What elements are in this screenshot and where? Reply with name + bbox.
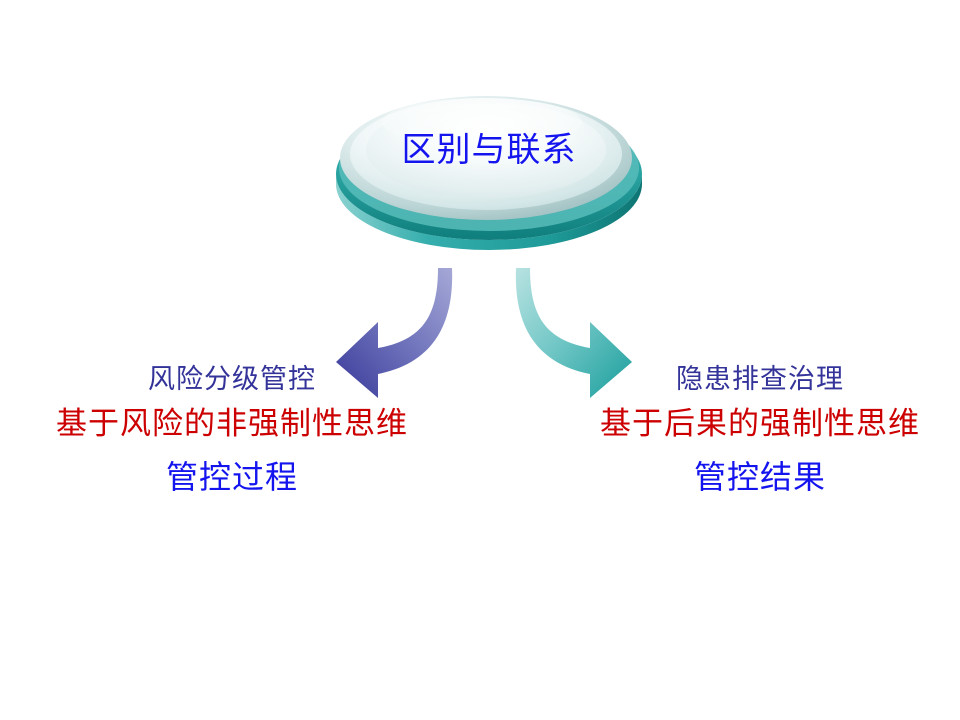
branch-left-result: 管控过程 <box>12 451 452 503</box>
branch-right-subtitle: 基于后果的强制性思维 <box>540 400 960 448</box>
branch-right-result: 管控结果 <box>540 451 960 503</box>
branch-left-subtitle: 基于风险的非强制性思维 <box>12 400 452 448</box>
slide-canvas: 区别与联系 风险分级管控 基于风险的非强制性思维 管控过程 隐患 <box>0 0 960 720</box>
branch-hazard-investigation: 隐患排查治理 基于后果的强制性思维 管控结果 <box>540 360 960 503</box>
center-node-disc[interactable]: 区别与联系 <box>330 78 648 250</box>
center-node-title: 区别与联系 <box>330 130 648 170</box>
branch-right-heading: 隐患排查治理 <box>540 360 960 400</box>
branch-left-heading: 风险分级管控 <box>12 360 452 400</box>
branch-risk-control: 风险分级管控 基于风险的非强制性思维 管控过程 <box>12 360 452 503</box>
